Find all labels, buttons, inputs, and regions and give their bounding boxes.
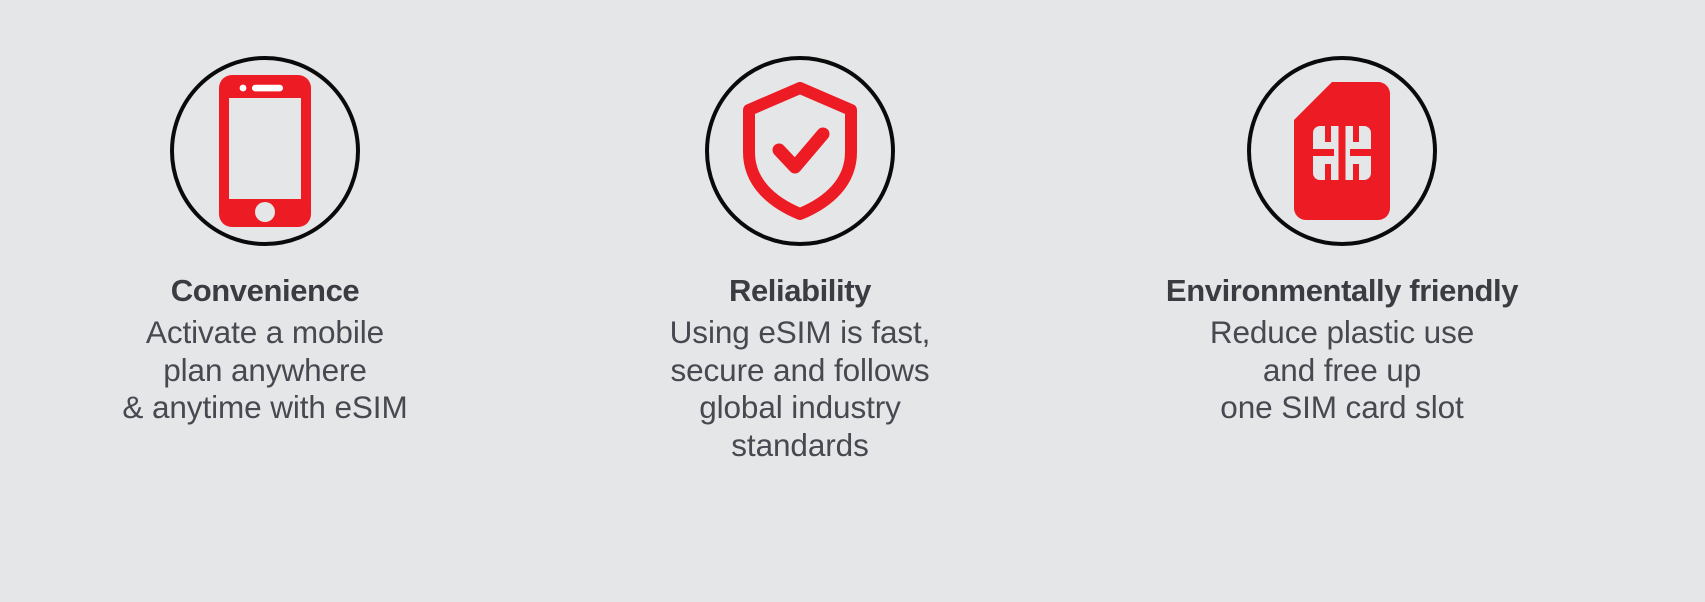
feature-description-line: Activate a mobile	[5, 314, 525, 351]
feature-heading: Reliability	[540, 274, 1060, 308]
feature-description-line: and free up	[1082, 352, 1602, 389]
feature-heading: Convenience	[5, 274, 525, 308]
icon-circle-reliability	[705, 56, 895, 246]
icon-circle-environment	[1247, 56, 1437, 246]
feature-column-environment: Environmentally friendly Reduce plastic …	[1082, 0, 1602, 602]
feature-highlights-banner: Convenience Activate a mobile plan anywh…	[0, 0, 1705, 602]
feature-description-line: Using eSIM is fast,	[540, 314, 1060, 351]
feature-description-line: standards	[540, 427, 1060, 464]
icon-circle-convenience	[170, 56, 360, 246]
feature-description-line: & anytime with eSIM	[5, 389, 525, 426]
feature-description-line: plan anywhere	[5, 352, 525, 389]
feature-heading: Environmentally friendly	[1082, 274, 1602, 308]
feature-column-convenience: Convenience Activate a mobile plan anywh…	[5, 0, 525, 602]
feature-description-line: global industry	[540, 389, 1060, 426]
feature-description: Reduce plastic use and free up one SIM c…	[1082, 314, 1602, 426]
feature-description-line: one SIM card slot	[1082, 389, 1602, 426]
feature-description: Using eSIM is fast, secure and follows g…	[540, 314, 1060, 464]
sim-card-icon	[1294, 82, 1390, 220]
feature-description-line: Reduce plastic use	[1082, 314, 1602, 351]
feature-description: Activate a mobile plan anywhere & anytim…	[5, 314, 525, 426]
shield-check-icon	[741, 82, 859, 220]
smartphone-icon	[219, 75, 311, 227]
feature-column-reliability: Reliability Using eSIM is fast, secure a…	[540, 0, 1060, 602]
feature-description-line: secure and follows	[540, 352, 1060, 389]
